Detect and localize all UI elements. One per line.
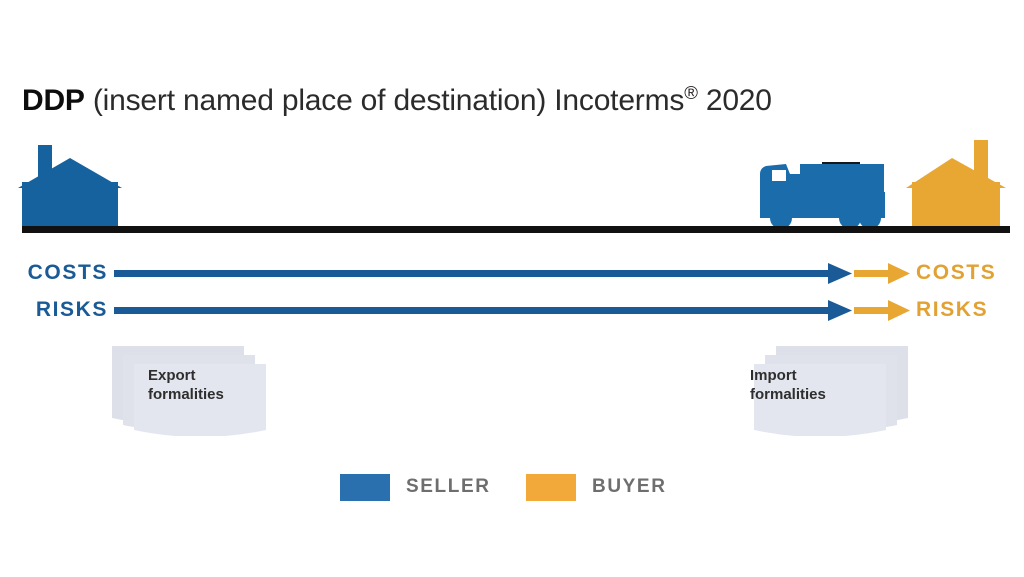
legend-swatch-buyer <box>526 474 576 501</box>
risks-buyer-arrow <box>854 300 910 321</box>
incoterms-diagram: DDP (insert named place of destination) … <box>0 0 1024 577</box>
registered-trademark-icon: ® <box>684 82 698 103</box>
legend-item-seller: SELLER <box>340 472 491 502</box>
costs-buyer-arrow <box>854 263 910 284</box>
factory-icon <box>18 145 122 228</box>
costs-seller-arrow <box>114 263 852 284</box>
import-formalities-documents: Import formalities <box>728 340 908 436</box>
import-formalities-label: Import formalities <box>750 366 826 404</box>
legend-label-seller: SELLER <box>406 476 491 498</box>
risks-seller-arrow <box>114 300 852 321</box>
title-description: (insert named place of destination) Inco… <box>85 84 684 117</box>
ground-line <box>22 226 1010 233</box>
scene-svg <box>0 132 1024 236</box>
page-title: DDP (insert named place of destination) … <box>22 80 982 122</box>
scene <box>0 132 1024 236</box>
truck-icon <box>760 162 885 229</box>
destination-building-icon <box>906 140 1006 228</box>
legend: SELLER BUYER <box>340 472 684 502</box>
cost-risk-transfer: COSTS RISKS COSTS RISKS <box>0 248 1024 336</box>
legend-label-buyer: BUYER <box>592 476 667 498</box>
export-formalities-label: Export formalities <box>148 366 224 404</box>
legend-swatch-seller <box>340 474 390 501</box>
transfer-arrows <box>0 248 1024 336</box>
incoterm-code: DDP <box>22 84 85 117</box>
export-formalities-documents: Export formalities <box>112 340 292 436</box>
legend-item-buyer: BUYER <box>526 472 667 502</box>
title-year: 2020 <box>698 84 772 117</box>
